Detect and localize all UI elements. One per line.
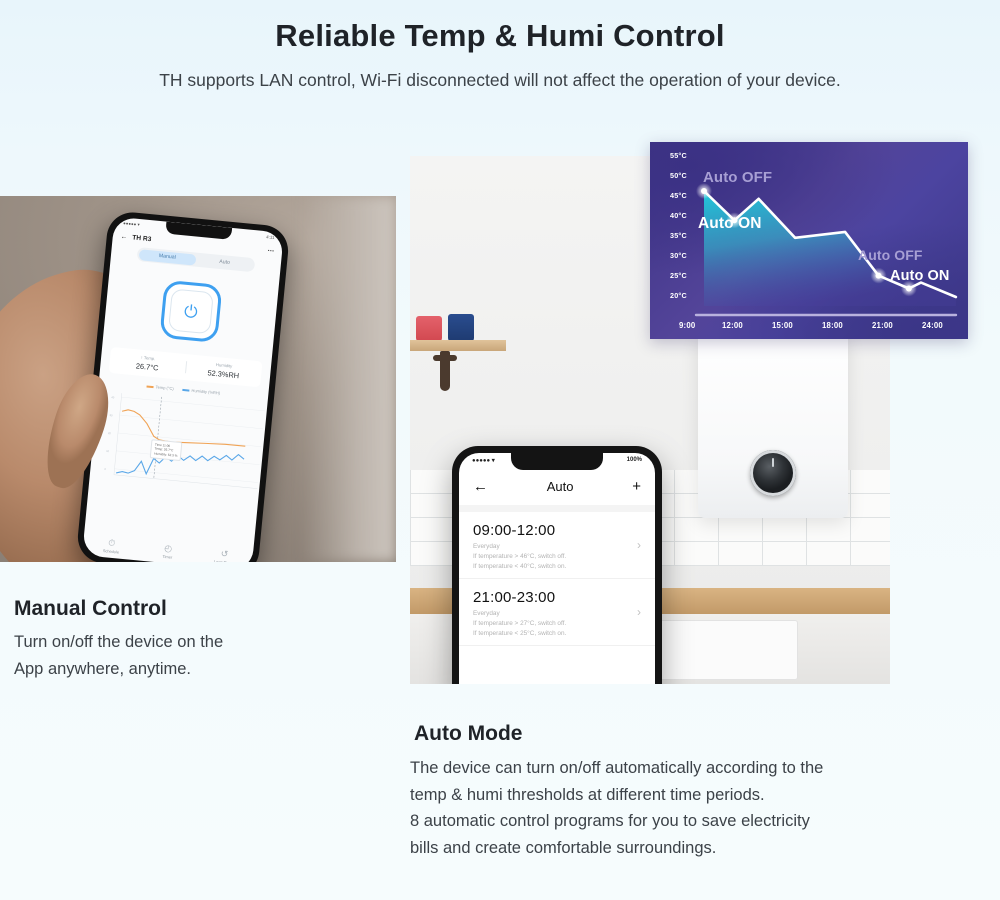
phone-device-manual: ●●●●● ▾ 4:11 ← TH R3 ⋯ Manual Auto ⏻ <box>76 210 291 562</box>
back-arrow-icon[interactable]: ← <box>473 478 488 495</box>
blue-cup <box>448 314 474 342</box>
legend-temp: Temp (°C) <box>146 384 173 392</box>
humidity-readout: Humidity 52.3%RH <box>185 359 262 382</box>
x-tick-0: 9:00 <box>679 321 695 330</box>
annotation-auto-off-2: Auto OFF <box>858 247 923 263</box>
tab-loop-timer[interactable]: ↺ Loop Timer <box>195 547 253 562</box>
status-bar-left: ●●●●● ▾ <box>472 457 495 464</box>
history-graph-svg: 4030 20100 <box>97 388 272 503</box>
battery-percent: 100% <box>627 457 642 464</box>
svg-text:20: 20 <box>108 431 112 435</box>
schedule-rule-off: If temperature > 46°C, switch off. <box>473 553 641 560</box>
boiler-dial <box>750 450 796 496</box>
x-tick-2: 15:00 <box>772 321 793 330</box>
temperature-readout: ↑ Temp. 26.7°C <box>109 352 186 375</box>
y-tick-7: 20°C <box>670 291 687 300</box>
schedule-rule-on: If temperature < 25°C, switch on. <box>473 630 641 637</box>
chart-marker-3 <box>906 285 912 291</box>
caption-heading-manual: Manual Control <box>14 597 167 621</box>
y-tick-4: 35°C <box>670 231 687 240</box>
history-graph: 4030 20100 Time 11:00 Temp: 26.7°C Humid… <box>97 388 260 502</box>
annotation-auto-on-1: Auto ON <box>698 215 762 233</box>
svg-text:40: 40 <box>111 395 115 399</box>
section-separator <box>459 505 655 512</box>
annotation-auto-off-1: Auto OFF <box>703 169 772 186</box>
y-tick-1: 50°C <box>670 171 687 180</box>
wall-shelf <box>410 340 506 351</box>
auto-screen-title: Auto <box>547 479 574 494</box>
phone-screen-auto: ●●●●● ▾ 100% ← Auto + 09:00-12:00 Everyd… <box>459 453 655 684</box>
graph-tooltip: Time 11:00 Temp: 26.7°C Humidity: 52.3 % <box>150 439 183 460</box>
tab-timer[interactable]: ◴ Timer <box>139 542 197 562</box>
phone-device-auto: ●●●●● ▾ 100% ← Auto + 09:00-12:00 Everyd… <box>452 446 662 684</box>
schedule-time: 21:00-23:00 <box>473 589 641 606</box>
svg-text:0: 0 <box>104 467 106 471</box>
photo-background-blur <box>300 196 396 562</box>
legend-humidity: Humidity (%RH) <box>182 387 220 396</box>
page-root: Reliable Temp & Humi Control TH supports… <box>0 0 1000 900</box>
svg-text:30: 30 <box>109 413 113 417</box>
caption-heading-auto: Auto Mode <box>414 722 522 746</box>
chart-marker-0 <box>701 188 707 194</box>
caption-body-manual: Turn on/off the device on the App anywhe… <box>14 629 394 682</box>
x-tick-4: 21:00 <box>872 321 893 330</box>
phone-notch <box>511 453 603 470</box>
appliance-panel <box>658 620 798 680</box>
boiler-unit <box>698 332 848 518</box>
x-tick-5: 24:00 <box>922 321 943 330</box>
annotation-auto-on-2: Auto ON <box>890 268 950 284</box>
y-tick-3: 40°C <box>670 211 687 220</box>
list-item[interactable]: 21:00-23:00 Everyday If temperature > 27… <box>459 579 655 646</box>
tab-auto[interactable]: Auto <box>195 254 253 271</box>
power-button-inner: ⏻ <box>168 289 214 335</box>
temperature-chart: 55°C 50°C 45°C 40°C 35°C 30°C 25°C 20°C … <box>650 142 968 339</box>
bottom-tab-bar: ⏱ Schedule ◴ Timer ↺ Loop Timer <box>82 536 253 562</box>
schedule-repeat: Everyday <box>473 610 641 617</box>
more-options-icon[interactable]: ⋯ <box>267 246 274 255</box>
power-icon: ⏻ <box>183 302 198 320</box>
status-bar-time: 4:11 <box>266 234 275 241</box>
x-tick-1: 12:00 <box>722 321 743 330</box>
auto-screen-header: ← Auto + <box>459 464 655 505</box>
red-cup <box>416 316 442 342</box>
caption-body-auto: The device can turn on/off automatically… <box>410 755 980 862</box>
list-item[interactable]: 09:00-12:00 Everyday If temperature > 46… <box>459 512 655 579</box>
chart-svg <box>650 142 968 339</box>
schedule-repeat: Everyday <box>473 543 641 550</box>
x-tick-3: 18:00 <box>822 321 843 330</box>
device-title: TH R3 <box>132 234 152 243</box>
manual-control-photo: ●●●●● ▾ 4:11 ← TH R3 ⋯ Manual Auto ⏻ <box>0 196 396 562</box>
back-arrow-icon[interactable]: ← <box>120 233 127 241</box>
tab-timer-label: Timer <box>162 554 172 560</box>
tab-schedule-label: Schedule <box>103 548 120 555</box>
y-tick-2: 45°C <box>670 191 687 200</box>
y-tick-0: 55°C <box>670 151 687 160</box>
shelf-bracket <box>440 351 450 391</box>
schedule-time: 09:00-12:00 <box>473 522 641 539</box>
chevron-right-icon[interactable]: › <box>637 538 641 552</box>
tab-manual[interactable]: Manual <box>138 249 196 266</box>
y-tick-5: 30°C <box>670 251 687 260</box>
y-tick-6: 25°C <box>670 271 687 280</box>
chart-marker-2 <box>876 273 882 279</box>
schedule-rule-off: If temperature > 27°C, switch off. <box>473 620 641 627</box>
chevron-right-icon[interactable]: › <box>637 605 641 619</box>
page-subtitle: TH supports LAN control, Wi-Fi disconnec… <box>0 70 1000 91</box>
tab-schedule[interactable]: ⏱ Schedule <box>82 536 140 556</box>
plus-icon[interactable]: + <box>632 478 641 495</box>
phone-screen-manual: ●●●●● ▾ 4:11 ← TH R3 ⋯ Manual Auto ⏻ <box>82 217 284 562</box>
svg-text:10: 10 <box>106 449 110 453</box>
power-button[interactable]: ⏻ <box>159 280 222 343</box>
schedule-rule-on: If temperature < 40°C, switch on. <box>473 563 641 570</box>
page-title: Reliable Temp & Humi Control <box>0 18 1000 54</box>
